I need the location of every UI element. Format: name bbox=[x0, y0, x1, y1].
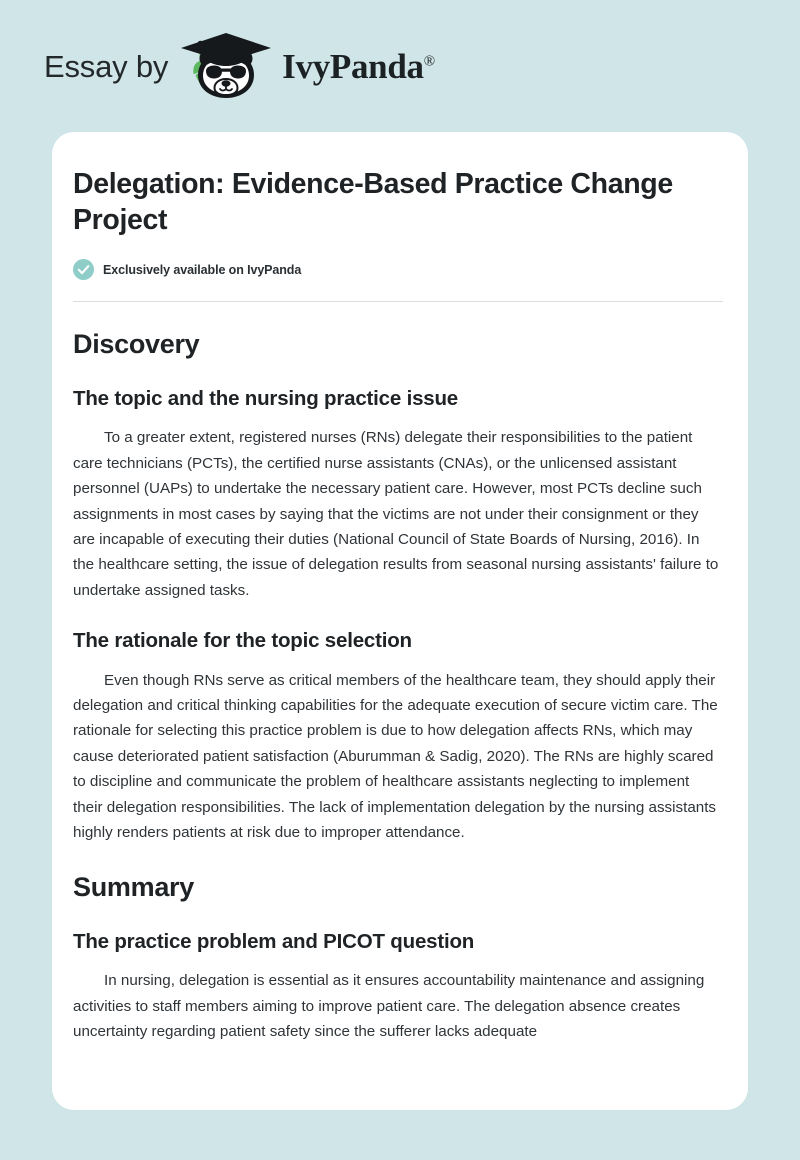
exclusivity-badge-label: Exclusively available on IvyPanda bbox=[103, 263, 301, 277]
panda-graduate-logo-icon bbox=[178, 31, 274, 101]
title-divider bbox=[73, 301, 723, 302]
exclusivity-badge: Exclusively available on IvyPanda bbox=[73, 259, 723, 280]
page-masthead: Essay by bbox=[0, 0, 800, 132]
check-circle-icon bbox=[73, 259, 94, 280]
brand-name-text: IvyPanda bbox=[282, 47, 424, 86]
subsection-heading: The rationale for the topic selection bbox=[73, 628, 723, 654]
section-discovery: Discovery The topic and the nursing prac… bbox=[73, 328, 723, 845]
registered-mark-icon: ® bbox=[424, 53, 435, 69]
subsection-heading: The topic and the nursing practice issue bbox=[73, 386, 723, 412]
document-card: Delegation: Evidence-Based Practice Chan… bbox=[52, 132, 748, 1110]
ivypanda-brand-logo[interactable]: IvyPanda® bbox=[178, 31, 435, 101]
body-paragraph: Even though RNs serve as critical member… bbox=[73, 668, 723, 846]
page-title: Delegation: Evidence-Based Practice Chan… bbox=[73, 166, 693, 238]
section-summary: Summary The practice problem and PICOT q… bbox=[73, 871, 723, 1044]
body-paragraph: In nursing, delegation is essential as i… bbox=[73, 968, 723, 1044]
masthead-prefix-label: Essay by bbox=[44, 51, 168, 82]
subsection-heading: The practice problem and PICOT question bbox=[73, 929, 723, 955]
section-heading: Discovery bbox=[73, 328, 723, 360]
section-heading: Summary bbox=[73, 871, 723, 903]
body-paragraph: To a greater extent, registered nurses (… bbox=[73, 425, 723, 603]
brand-wordmark: IvyPanda® bbox=[282, 49, 435, 84]
